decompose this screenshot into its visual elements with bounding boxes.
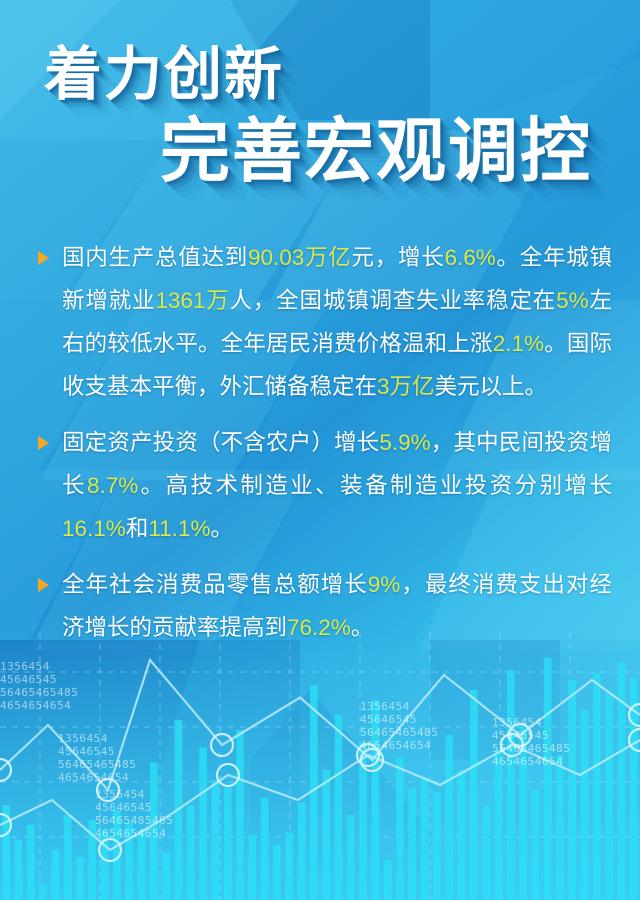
chart-bar <box>396 758 404 900</box>
chart-bar <box>52 850 60 900</box>
highlight-value: 11.1% <box>148 516 210 541</box>
chart-bar <box>581 710 589 900</box>
bullet-text: 和 <box>126 516 149 541</box>
triangle-right-icon <box>38 251 49 265</box>
highlight-value: 90.03万亿 <box>248 245 352 270</box>
chart-bar <box>470 690 478 900</box>
chart-bar <box>384 860 392 900</box>
chart-bar <box>322 770 330 900</box>
footer-decorative-chart <box>0 632 640 900</box>
chart-bar <box>273 845 281 900</box>
chart-bar <box>138 830 146 900</box>
bullet-item: 国内生产总值达到90.03万亿元，增长6.6%。全年城镇新增就业1361万人，全… <box>36 236 612 408</box>
chart-bar <box>15 840 23 900</box>
triangle-right-icon <box>38 578 49 592</box>
chart-bar <box>248 835 256 900</box>
chart-bar <box>556 755 564 900</box>
chart-bar <box>408 788 416 900</box>
chart-bar <box>236 730 244 900</box>
highlight-value: 1361万 <box>155 288 229 313</box>
title-line-1: 着力创新 <box>44 46 640 104</box>
chart-bar <box>544 658 552 900</box>
chart-bar <box>39 885 47 900</box>
highlight-value: 16.1% <box>62 516 126 541</box>
highlight-value: 6.6% <box>444 245 495 270</box>
chart-bar <box>482 805 490 900</box>
highlight-value: 9% <box>368 572 401 597</box>
bullet-list: 国内生产总值达到90.03万亿元，增长6.6%。全年城镇新增就业1361万人，全… <box>36 236 612 662</box>
chart-bar <box>495 750 503 900</box>
chart-bar <box>27 825 35 900</box>
chart-bar <box>125 823 133 900</box>
bullet-item: 固定资产投资（不含农户）增长5.9%，其中民间投资增长8.7%。高技术制造业、装… <box>36 421 612 550</box>
chart-bar <box>150 763 158 900</box>
infographic-poster: 1356454456465455646546548546546546541356… <box>0 0 640 900</box>
title-line-2: 完善宏观调控 <box>160 116 640 186</box>
bullet-text: 。 <box>210 516 233 541</box>
bullet-text: 全年社会消费品零售总额增长 <box>62 572 368 597</box>
bullet-text: 。高技术制造业、装备制造业投资分别增长 <box>138 473 612 498</box>
chart-bar <box>76 858 84 900</box>
highlight-value: 8.7% <box>87 473 138 498</box>
chart-bar <box>445 735 453 900</box>
bullet-text: 国内生产总值达到 <box>62 245 248 270</box>
bullet-text: 固定资产投资（不含农户）增长 <box>62 430 379 455</box>
chart-bar <box>187 805 195 900</box>
chart-bar <box>335 715 343 900</box>
chart-bar <box>285 833 293 900</box>
chart-bar <box>421 778 429 900</box>
bullet-text: 。 <box>351 615 374 640</box>
chart-bar <box>593 673 601 900</box>
chart-bar <box>532 790 540 900</box>
triangle-right-icon <box>38 436 49 450</box>
poster-title: 着力创新 完善宏观调控 <box>0 46 640 186</box>
bullet-item: 全年社会消费品零售总额增长9%，最终消费支出对经济增长的贡献率提高到76.2%。 <box>36 563 612 649</box>
chart-bar <box>224 788 232 900</box>
chart-bar <box>618 663 626 900</box>
chart-bar <box>568 680 576 900</box>
chart-bar <box>372 700 380 900</box>
highlight-value: 3万亿 <box>377 374 435 399</box>
chart-bar <box>64 815 72 900</box>
highlight-value: 5% <box>556 288 589 313</box>
chart-bar <box>298 803 306 900</box>
highlight-value: 2.1% <box>493 331 544 356</box>
chart-bar <box>212 780 220 900</box>
chart-bar <box>605 693 613 900</box>
bullet-text: 美元以上。 <box>435 374 548 399</box>
bullet-text: 元，增长 <box>352 245 445 270</box>
chart-bar <box>433 793 441 900</box>
chart-bar <box>162 853 170 900</box>
highlight-value: 76.2% <box>287 615 351 640</box>
chart-bar <box>199 748 207 900</box>
chart-bar <box>458 770 466 900</box>
chart-bar <box>507 670 515 900</box>
highlight-value: 5.9% <box>379 430 430 455</box>
chart-bar <box>261 798 269 900</box>
chart-bar <box>347 815 355 900</box>
bullet-text: 人，全国城镇调查失业率稳定在 <box>230 288 557 313</box>
